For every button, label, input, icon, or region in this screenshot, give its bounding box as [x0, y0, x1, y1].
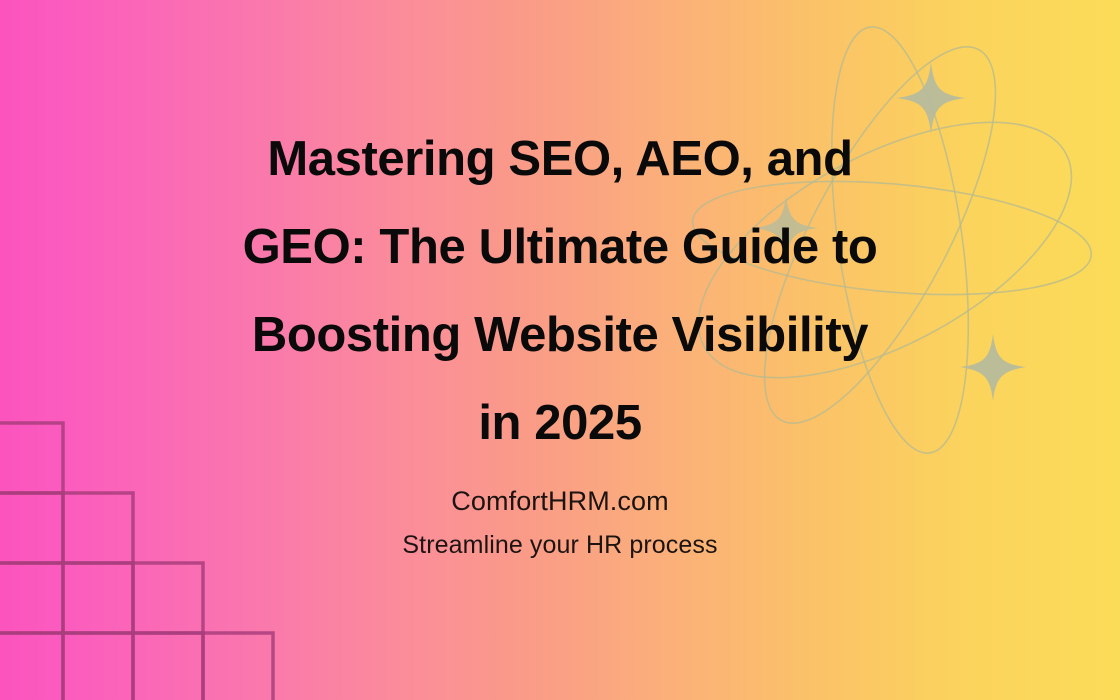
- title-line: Boosting Website Visibility: [120, 291, 1000, 379]
- title-line: in 2025: [120, 379, 1000, 467]
- title-line: Mastering SEO, AEO, and: [120, 115, 1000, 203]
- banner-content: Mastering SEO, AEO, and GEO: The Ultimat…: [0, 0, 1120, 700]
- page-title: Mastering SEO, AEO, and GEO: The Ultimat…: [120, 115, 1000, 467]
- brand-name: ComfortHRM.com: [0, 483, 1120, 519]
- title-line: GEO: The Ultimate Guide to: [120, 203, 1000, 291]
- banner-canvas: Mastering SEO, AEO, and GEO: The Ultimat…: [0, 0, 1120, 700]
- brand-tagline: Streamline your HR process: [0, 527, 1120, 563]
- brand-block: ComfortHRM.com Streamline your HR proces…: [0, 483, 1120, 563]
